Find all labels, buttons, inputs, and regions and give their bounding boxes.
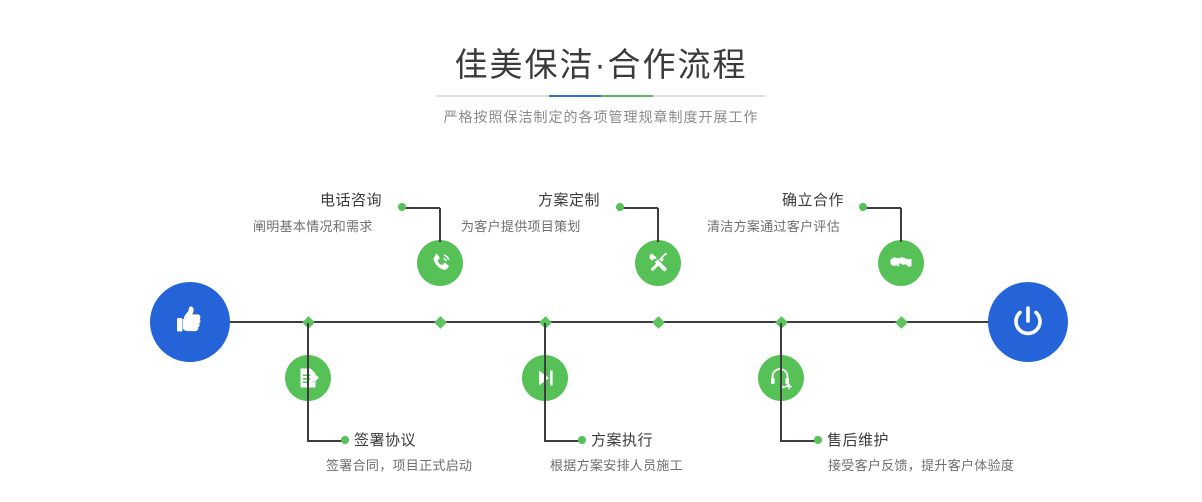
tools-icon	[645, 250, 671, 276]
handshake-icon	[888, 250, 914, 276]
step-3-connector-dot	[616, 203, 624, 211]
step-2-desc: 签署合同，项目正式启动	[326, 455, 472, 474]
step-3-axis-marker	[652, 316, 665, 329]
divider-green-segment	[601, 95, 653, 97]
step-1-icon-bubble	[417, 240, 463, 286]
phone-call-icon	[427, 250, 453, 276]
step-6-title: 售后维护	[827, 429, 889, 450]
step-2-title: 签署协议	[354, 429, 416, 450]
step-1-connector-horizontal	[402, 207, 440, 209]
page-title: 佳美保洁·合作流程	[0, 38, 1202, 86]
step-5-icon-bubble	[878, 240, 924, 286]
step-2-connector-dot	[341, 436, 349, 444]
page-subtitle: 严格按照保洁制定的各项管理规章制度开展工作	[0, 107, 1202, 127]
step-1-desc: 阐明基本情况和需求	[253, 216, 373, 235]
step-3-title: 方案定制	[538, 189, 600, 210]
step-6-connector-horizontal	[780, 440, 818, 442]
step-3-connector-horizontal	[620, 207, 658, 209]
title-divider	[436, 95, 766, 97]
step-6-desc: 接受客户反馈，提升客户体验度	[828, 455, 1014, 474]
step-3-connector-vertical	[657, 208, 659, 242]
step-5-title: 确立合作	[782, 189, 844, 210]
step-3-desc: 为客户提供项目策划	[461, 216, 581, 235]
step-4-desc: 根据方案安排人员施工	[550, 455, 683, 474]
step-5-desc: 清洁方案通过客户评估	[707, 216, 840, 235]
step-4-connector-dot	[578, 436, 586, 444]
step-1-connector-vertical	[439, 208, 441, 242]
power-icon	[1007, 301, 1049, 343]
step-5-connector-horizontal	[863, 207, 901, 209]
step-4-title: 方案执行	[591, 429, 653, 450]
timeline-axis	[150, 321, 1052, 323]
step-3-icon-bubble	[635, 240, 681, 286]
step-5-axis-marker	[895, 316, 908, 329]
step-6-connector-vertical	[780, 323, 782, 441]
step-6-connector-dot	[814, 436, 822, 444]
thumbs-up-icon	[170, 302, 210, 342]
timeline-start	[150, 282, 230, 362]
step-4-connector-horizontal	[544, 440, 582, 442]
flow-diagram: 佳美保洁·合作流程 严格按照保洁制定的各项管理规章制度开展工作	[0, 0, 1202, 502]
step-2-connector-horizontal	[307, 440, 345, 442]
step-1-axis-marker	[434, 316, 447, 329]
step-4-connector-vertical	[544, 323, 546, 441]
divider-blue-segment	[549, 95, 601, 97]
step-1-connector-dot	[398, 203, 406, 211]
timeline-end	[988, 282, 1068, 362]
step-5-connector-dot	[859, 203, 867, 211]
step-1-title: 电话咨询	[320, 189, 382, 210]
step-5-connector-vertical	[900, 208, 902, 242]
step-2-connector-vertical	[307, 323, 309, 441]
